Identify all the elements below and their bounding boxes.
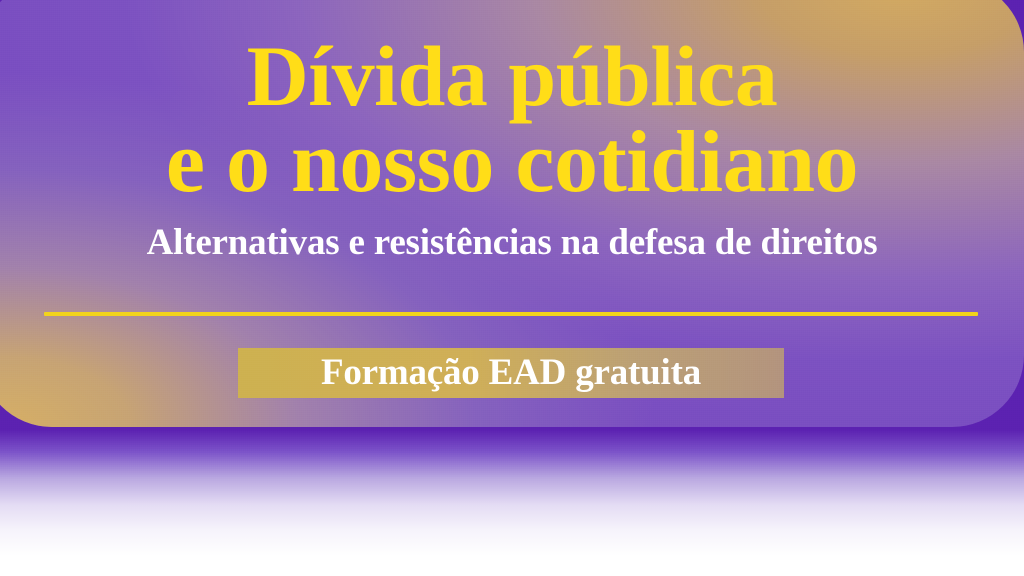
course-badge: Formação EAD gratuita: [238, 348, 784, 398]
title-line-1: Dívida pública: [18, 34, 1006, 119]
page-title: Dívida pública e o nosso cotidiano: [0, 34, 1024, 206]
course-badge-label: Formação EAD gratuita: [321, 354, 701, 391]
title-line-2: e o nosso cotidiano: [18, 119, 1006, 206]
poster-root: Dívida pública e o nosso cotidiano Alter…: [0, 0, 1024, 576]
gold-divider-rule: [44, 312, 978, 316]
hero-text-block: Dívida pública e o nosso cotidiano Alter…: [0, 34, 1024, 263]
footer-logo-bar: Realização Parceria Apoio 25: [0, 466, 1024, 576]
page-subtitle: Alternativas e resistências na defesa de…: [0, 224, 1024, 263]
